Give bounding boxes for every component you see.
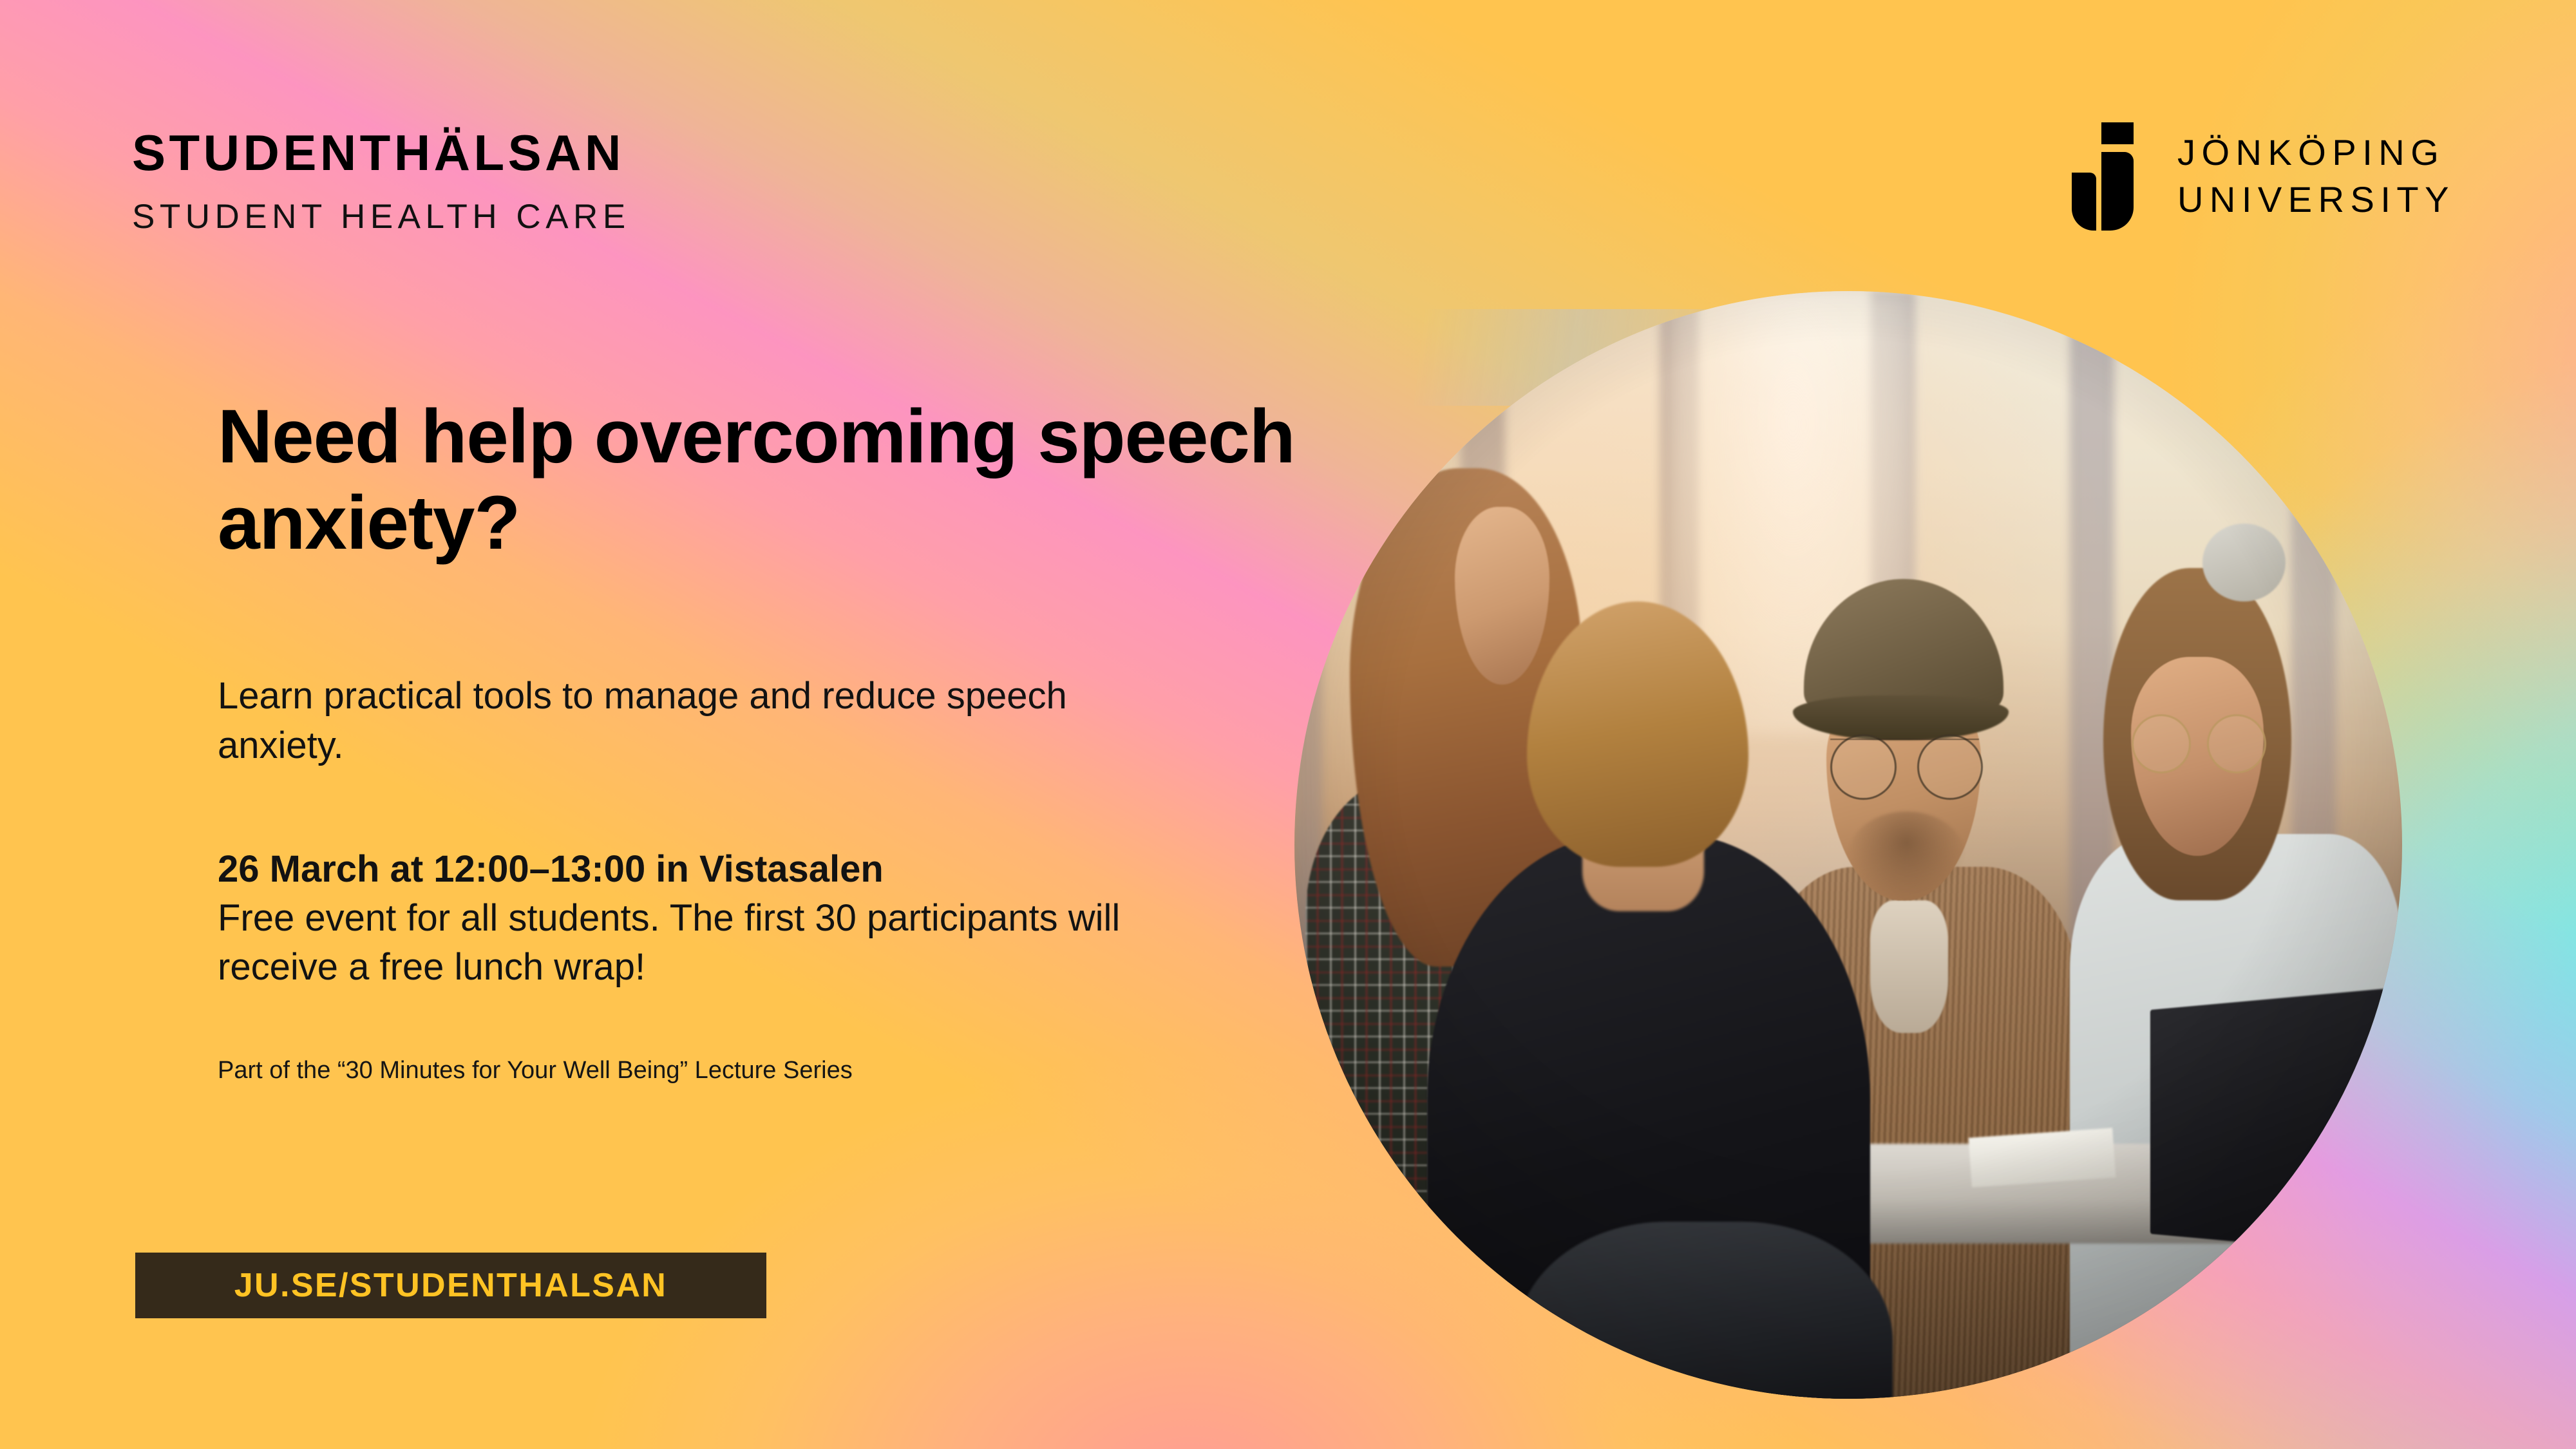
event-details: 26 March at 12:00–13:00 in Vistasalen Fr… <box>218 845 1222 992</box>
event-description: Free event for all students. The first 3… <box>218 897 1120 988</box>
brand-lockup: STUDENTHÄLSAN STUDENT HEALTH CARE <box>132 128 630 234</box>
photo-vignette <box>1294 291 2402 1399</box>
brand-title: STUDENTHÄLSAN <box>132 128 630 178</box>
poster-canvas: STUDENTHÄLSAN STUDENT HEALTH CARE JÖNKÖP… <box>0 0 2576 1449</box>
ju-monogram-icon <box>2072 122 2144 231</box>
ju-wordmark-line1: JÖNKÖPING <box>2177 129 2455 176</box>
event-date-time-location: 26 March at 12:00–13:00 in Vistasalen <box>218 845 1222 894</box>
lecture-series-note: Part of the “30 Minutes for Your Well Be… <box>218 1055 1184 1086</box>
website-url-label: JU.SE/STUDENTHALSAN <box>234 1269 668 1302</box>
ju-wordmark: JÖNKÖPING UNIVERSITY <box>2177 129 2455 223</box>
brand-subtitle: STUDENT HEALTH CARE <box>132 200 630 234</box>
lede-paragraph: Learn practical tools to manage and redu… <box>218 672 1184 770</box>
ju-wordmark-line2: UNIVERSITY <box>2177 176 2455 223</box>
website-url-button[interactable]: JU.SE/STUDENTHALSAN <box>135 1253 766 1318</box>
jonkoping-university-logo: JÖNKÖPING UNIVERSITY <box>2072 122 2455 231</box>
headline: Need help overcoming speech anxiety? <box>218 394 1351 567</box>
students-discussion-photo <box>1294 291 2402 1399</box>
